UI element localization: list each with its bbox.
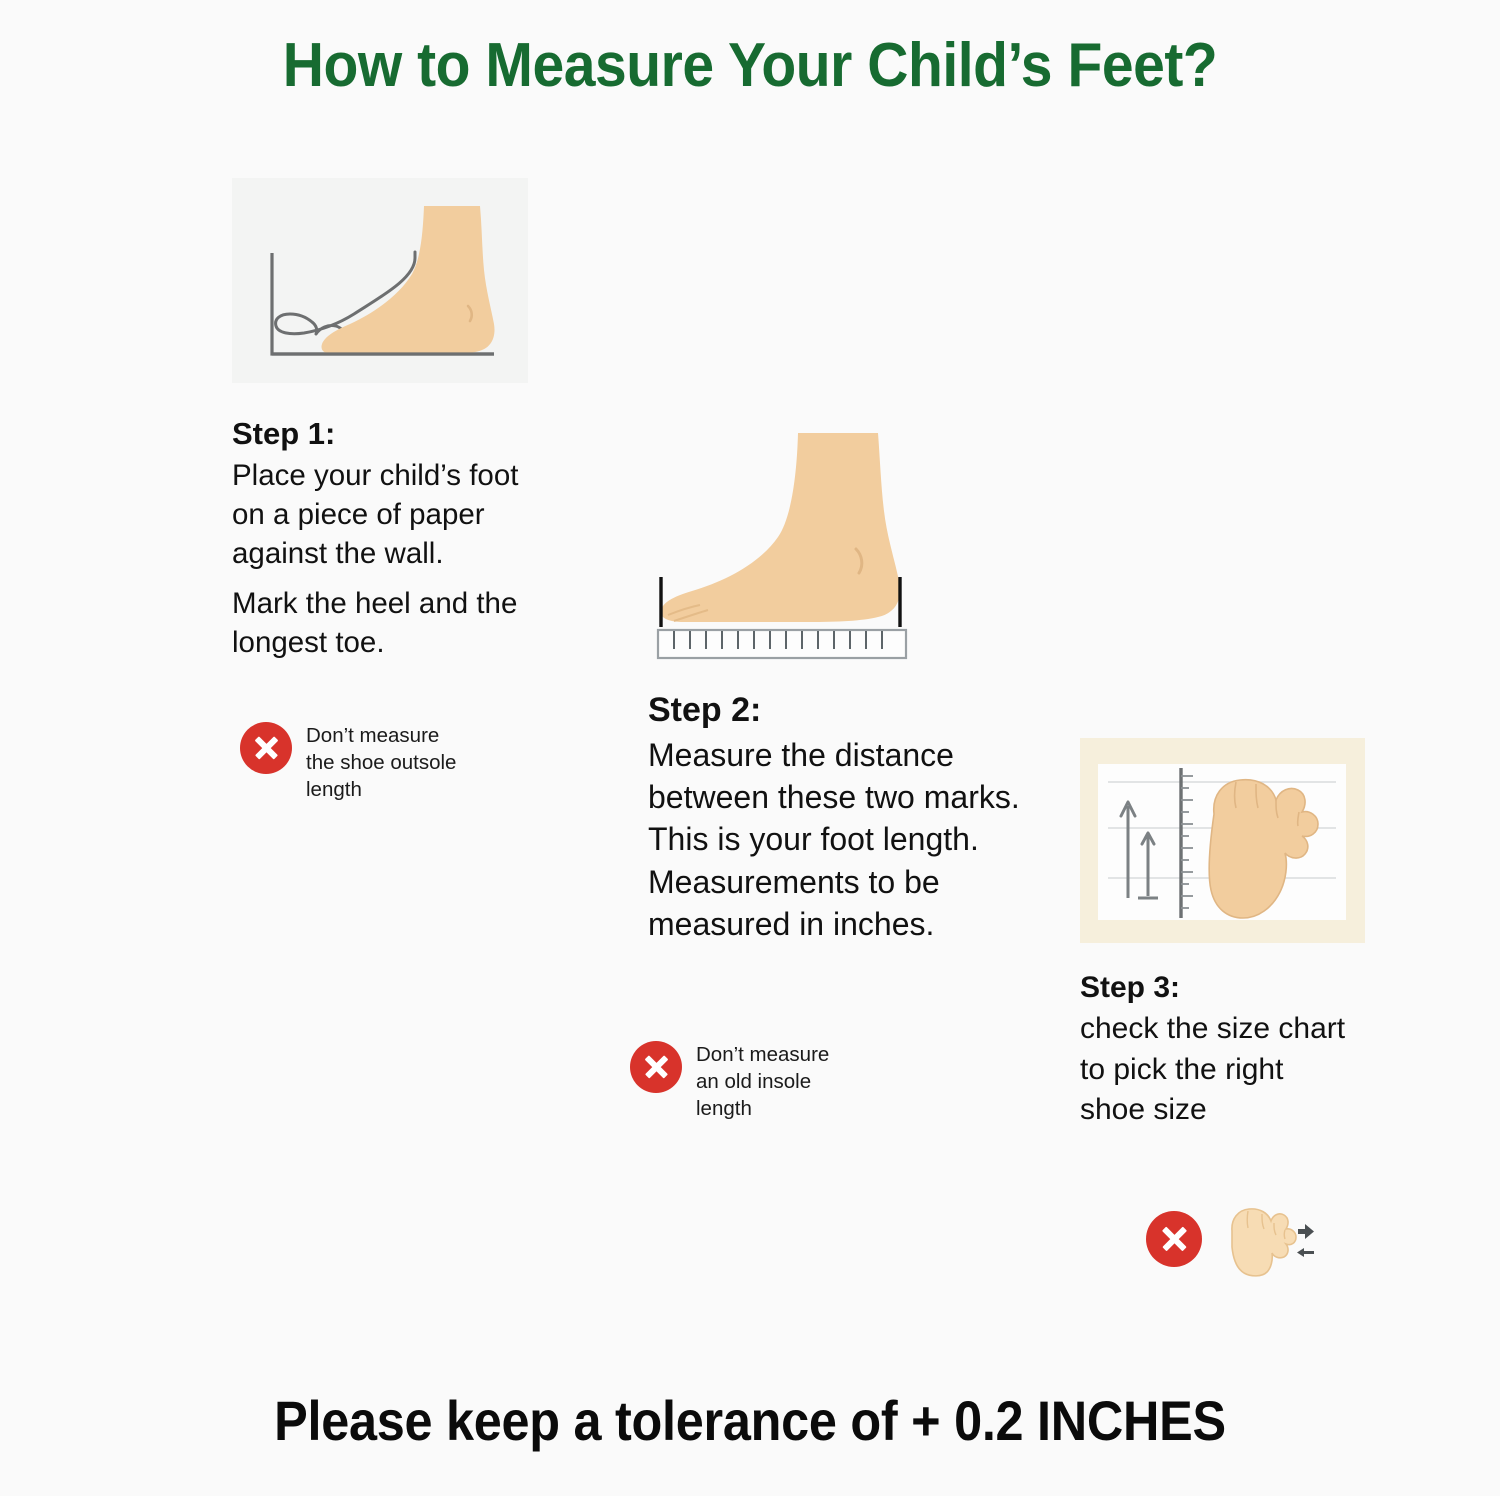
step-1-line: Mark the heel and the	[232, 584, 562, 623]
paragraph-spacer	[232, 574, 562, 584]
red-x-circle-icon	[630, 1041, 682, 1093]
warning-line: length	[306, 776, 456, 803]
red-x-circle-icon	[240, 722, 292, 774]
warning-line: Don’t measure	[696, 1041, 829, 1068]
step-2-line: Measure the distance	[648, 734, 1088, 776]
foot-side-view-with-ruler-icon	[648, 425, 938, 663]
step-1-line: Place your child’s foot	[232, 456, 562, 495]
page-title: How to Measure Your Child’s Feet?	[60, 30, 1440, 101]
step-2-illustration	[648, 425, 938, 663]
foot-sole-with-arrows-icon	[1218, 1197, 1314, 1281]
step-2-text: Measure the distance between these two m…	[648, 734, 1088, 945]
step-1-block: Step 1: Place your child’s foot on a pie…	[232, 178, 562, 662]
footprint-sole-with-vertical-ruler-icon	[1080, 738, 1365, 943]
step-2-line: This is your foot length.	[648, 818, 1088, 860]
step-1-line: on a piece of paper	[232, 495, 562, 534]
step-1-warning-text: Don’t measure the shoe outsole length	[306, 722, 456, 803]
step-3-warning	[1146, 1197, 1314, 1281]
step-1-text: Place your child’s foot on a piece of pa…	[232, 456, 562, 662]
warning-line: an old insole	[696, 1068, 829, 1095]
warning-line: Don’t measure	[306, 722, 456, 749]
step-3-block: Step 3: check the size chart to pick the…	[1080, 738, 1420, 1131]
step-1-warning: Don’t measure the shoe outsole length	[240, 722, 456, 803]
red-x-circle-icon	[1146, 1211, 1202, 1267]
step-2-heading: Step 2:	[648, 691, 1088, 730]
step-1-heading: Step 1:	[232, 416, 562, 452]
step-2-line: measured in inches.	[648, 903, 1088, 945]
warning-line: the shoe outsole	[306, 749, 456, 776]
warning-line: length	[696, 1095, 829, 1122]
step-2-line: between these two marks.	[648, 776, 1088, 818]
step-2-warning-text: Don’t measure an old insole length	[696, 1041, 829, 1122]
step-3-illustration	[1080, 738, 1365, 943]
tolerance-note: Please keep a tolerance of + 0.2 INCHES	[75, 1388, 1425, 1453]
step-1-line: longest toe.	[232, 623, 562, 662]
step-1-line: against the wall.	[232, 534, 562, 573]
step-2-block: Step 2: Measure the distance between the…	[648, 425, 1088, 945]
step-3-line: to pick the right	[1080, 1050, 1420, 1091]
step-3-line: check the size chart	[1080, 1009, 1420, 1050]
step-2-line: Measurements to be	[648, 861, 1088, 903]
step-3-text: check the size chart to pick the right s…	[1080, 1009, 1420, 1131]
step-3-line: shoe size	[1080, 1090, 1420, 1131]
foot-side-view-against-wall-icon	[232, 178, 528, 383]
step-1-illustration	[232, 178, 528, 383]
measurement-guide-page: How to Measure Your Child’s Feet? Step 1…	[0, 0, 1500, 1496]
step-3-heading: Step 3:	[1080, 971, 1420, 1005]
step-2-warning: Don’t measure an old insole length	[630, 1041, 829, 1122]
